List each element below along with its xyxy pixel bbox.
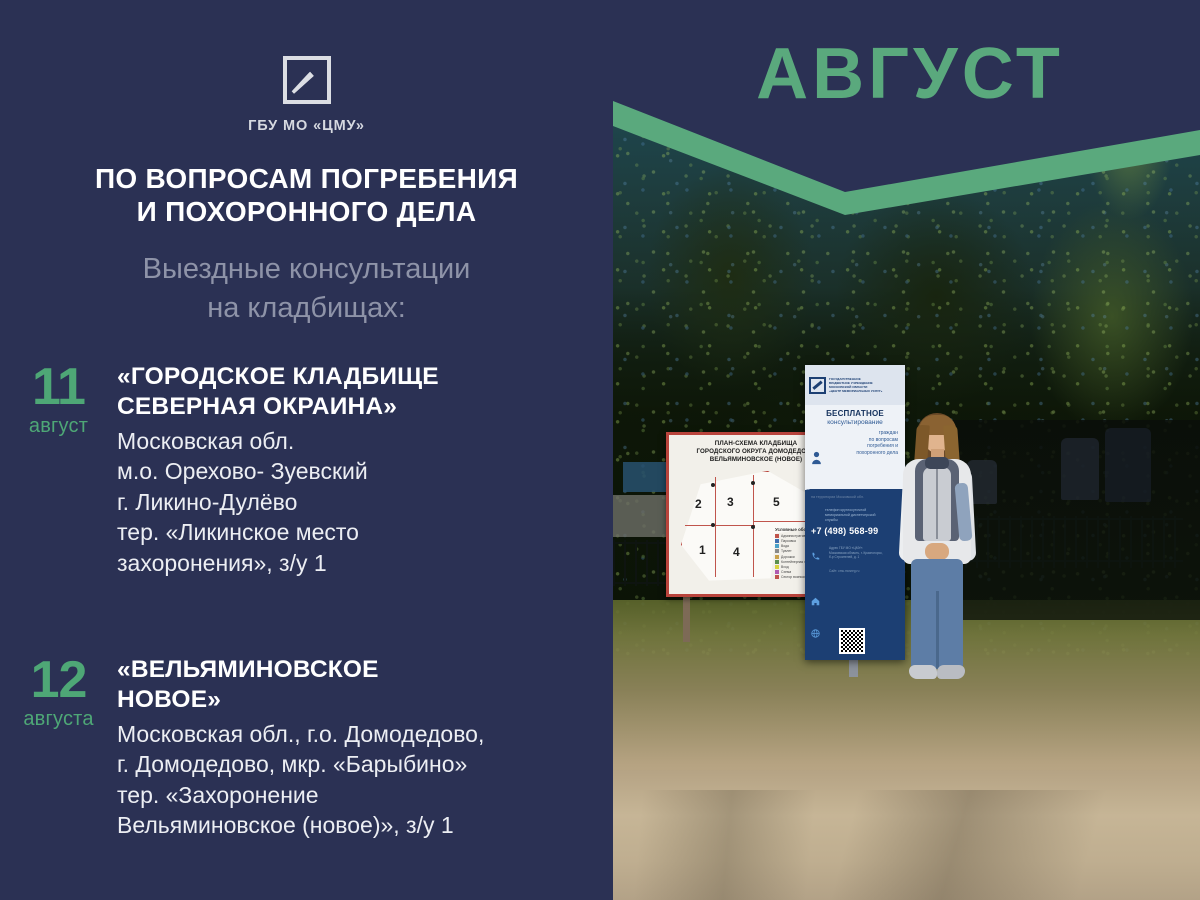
plan-map-marker: [711, 523, 715, 527]
plan-map-marker: [751, 481, 755, 485]
legend-swatch: [775, 560, 779, 564]
banner-coverage-note: на территории Московской обл.: [811, 495, 899, 499]
qr-code: [839, 628, 865, 654]
legend-swatch: [775, 555, 779, 559]
banner-org-line4: «ЦЕНТР МЕМОРИАЛЬНЫХ УСЛУГ»: [829, 389, 882, 393]
home-icon: [811, 597, 820, 606]
cemetery-name-line2: НОВОЕ»: [117, 685, 597, 715]
schedule-entry: 11 август «ГОРОДСКОЕ КЛАДБИЩЕ СЕВЕРНАЯ О…: [0, 362, 613, 579]
legend-label: Сектор воинский: [781, 575, 807, 579]
legend-swatch: [775, 575, 779, 579]
address-line: Вельяминовское (новое)», з/у 1: [117, 810, 597, 841]
shoe-right: [937, 665, 965, 679]
banner-main-message: БЕСПЛАТНОЕ консультирование граждан по в…: [805, 405, 905, 489]
cemetery-name-line1: «ВЕЛЬЯМИНОВСКОЕ: [117, 655, 597, 685]
banner-desc-line4: похоронного дела: [810, 450, 898, 457]
globe-icon: [811, 629, 820, 638]
qr-pattern: [841, 630, 863, 652]
legend-swatch: [775, 544, 779, 548]
poster-root: ПЛАН-СХЕМА КЛАДБИЩА ГОРОДСКОГО ОКРУГА ДО…: [0, 0, 1200, 900]
hands: [925, 543, 949, 560]
banner-heading: БЕСПЛАТНОЕ: [810, 409, 900, 418]
legend-swatch: [775, 539, 779, 543]
jeans-seam: [936, 591, 939, 669]
plan-sector-1: 1: [699, 543, 706, 557]
banner-address: Адрес ГБУ МО «ЦМУ»: Московская область, …: [829, 546, 899, 559]
plan-map-divider: [715, 477, 716, 577]
fence-rail: [943, 560, 1183, 562]
date-day: 12: [0, 657, 117, 705]
headline-line2: И ПОХОРОННОГО ДЕЛА: [0, 196, 613, 229]
brand-logo-text: ГБУ МО «ЦМУ»: [0, 118, 613, 134]
legend-label: Схема: [781, 570, 791, 574]
cemetery-name: «ВЕЛЬЯМИНОВСКОЕ НОВОЕ»: [117, 655, 597, 715]
cemetery-address: Московская обл. м.о. Орехово- Зуевский г…: [117, 426, 597, 579]
date-badge: 12 августа: [0, 655, 117, 731]
address-line: Московская обл., г.о. Домодедово,: [117, 719, 597, 750]
entry-info: «ВЕЛЬЯМИНОВСКОЕ НОВОЕ» Московская обл., …: [117, 655, 613, 841]
headline-line1: ПО ВОПРОСАМ ПОГРЕБЕНИЯ: [0, 163, 613, 196]
square-diagonal-logo-icon: [283, 56, 331, 104]
banner-subheading: консультирование: [810, 419, 900, 426]
subhead-line2: на кладбищах:: [0, 289, 613, 328]
plan-sector-4: 4: [733, 545, 740, 559]
banner-phone-label: телефон круглосуточной мемориальной дисп…: [825, 508, 899, 523]
grave-monument: [1061, 438, 1099, 500]
ground-shadow-layer: [613, 790, 1200, 900]
legend-label: Вход: [781, 565, 789, 569]
legend-label: Дорожки: [781, 555, 795, 559]
cemetery-name: «ГОРОДСКОЕ КЛАДБИЩЕ СЕВЕРНАЯ ОКРАИНА»: [117, 362, 597, 422]
brand-logo: ГБУ МО «ЦМУ»: [0, 56, 613, 134]
phone-icon: [811, 552, 820, 561]
date-month-word: август: [0, 415, 117, 438]
shoe-left: [909, 665, 937, 679]
cemetery-address: Московская обл., г.о. Домодедово, г. Дом…: [117, 719, 597, 841]
address-line: захоронения», з/у 1: [117, 548, 597, 579]
page-title: ПО ВОПРОСАМ ПОГРЕБЕНИЯ И ПОХОРОННОГО ДЕЛ…: [0, 163, 613, 229]
plan-map-marker: [711, 483, 715, 487]
plan-sector-2: 2: [695, 497, 702, 511]
left-panel: ГБУ МО «ЦМУ» ПО ВОПРОСАМ ПОГРЕБЕНИЯ И ПО…: [0, 0, 613, 900]
consultant-person: [895, 413, 979, 688]
cemetery-name-line2: СЕВЕРНАЯ ОКРАИНА»: [117, 392, 597, 422]
entry-info: «ГОРОДСКОЕ КЛАДБИЩЕ СЕВЕРНАЯ ОКРАИНА» Мо…: [117, 362, 613, 579]
legend-label: Туалет: [781, 549, 792, 553]
plan-sector-5: 5: [773, 495, 780, 509]
schedule-entry: 12 августа «ВЕЛЬЯМИНОВСКОЕ НОВОЕ» Москов…: [0, 655, 613, 841]
legend-label: Вода: [781, 544, 789, 548]
square-diagonal-logo-icon: [809, 377, 826, 394]
date-day: 11: [0, 364, 117, 412]
address-line: Московская обл.: [117, 426, 597, 457]
schedule-entry-row: 11 август «ГОРОДСКОЕ КЛАДБИЩЕ СЕВЕРНАЯ О…: [0, 362, 613, 579]
legend-swatch: [775, 570, 779, 574]
fence-rail: [943, 518, 1183, 520]
date-month-word: августа: [0, 708, 117, 731]
schedule-entry-row: 12 августа «ВЕЛЬЯМИНОВСКОЕ НОВОЕ» Москов…: [0, 655, 613, 841]
address-line: м.о. Орехово- Зуевский: [117, 456, 597, 487]
legend-label: Парковка: [781, 539, 796, 543]
sign-post-left: [683, 590, 690, 642]
subhead-line1: Выездные консультации: [0, 250, 613, 289]
legend-swatch: [775, 534, 779, 538]
zipper: [936, 469, 938, 539]
address-line: тер. «Ликинское место: [117, 517, 597, 548]
month-title: АВГУСТ: [700, 38, 1120, 110]
address-line: тер. «Захоронение: [117, 780, 597, 811]
plan-sector-3: 3: [727, 495, 734, 509]
grave-monument: [1105, 428, 1151, 502]
address-line: г. Ликино-Дулёво: [117, 487, 597, 518]
plan-map-marker: [751, 525, 755, 529]
date-badge: 11 август: [0, 362, 117, 438]
person-icon: [811, 451, 822, 465]
banner-website: Сайт: cmu.mosreg.ru: [829, 569, 899, 573]
legend-swatch: [775, 549, 779, 553]
banner-desc: граждан по вопросам погребения и похорон…: [810, 430, 900, 456]
legend-swatch: [775, 565, 779, 569]
consultation-rollup-banner: ГОСУДАРСТВЕННОЕ БЮДЖЕТНОЕ УЧРЕЖДЕНИЕ МОС…: [805, 365, 905, 660]
cemetery-name-line1: «ГОРОДСКОЕ КЛАДБИЩЕ: [117, 362, 597, 392]
banner-header: ГОСУДАРСТВЕННОЕ БЮДЖЕТНОЕ УЧРЕЖДЕНИЕ МОС…: [805, 365, 905, 405]
plan-map-divider: [685, 525, 755, 526]
banner-address-line3: б-р Строителей, д. 1: [829, 555, 899, 559]
collar: [925, 457, 949, 469]
banner-org-name: ГОСУДАРСТВЕННОЕ БЮДЖЕТНОЕ УЧРЕЖДЕНИЕ МОС…: [829, 377, 882, 394]
cemetery-graves-area: [943, 420, 1200, 620]
address-line: г. Домодедово, мкр. «Барыбино»: [117, 749, 597, 780]
page-subtitle: Выездные консультации на кладбищах:: [0, 250, 613, 328]
banner-phone-number: +7 (498) 568-99: [811, 526, 899, 536]
phone-label-line3: службы: [825, 518, 899, 523]
